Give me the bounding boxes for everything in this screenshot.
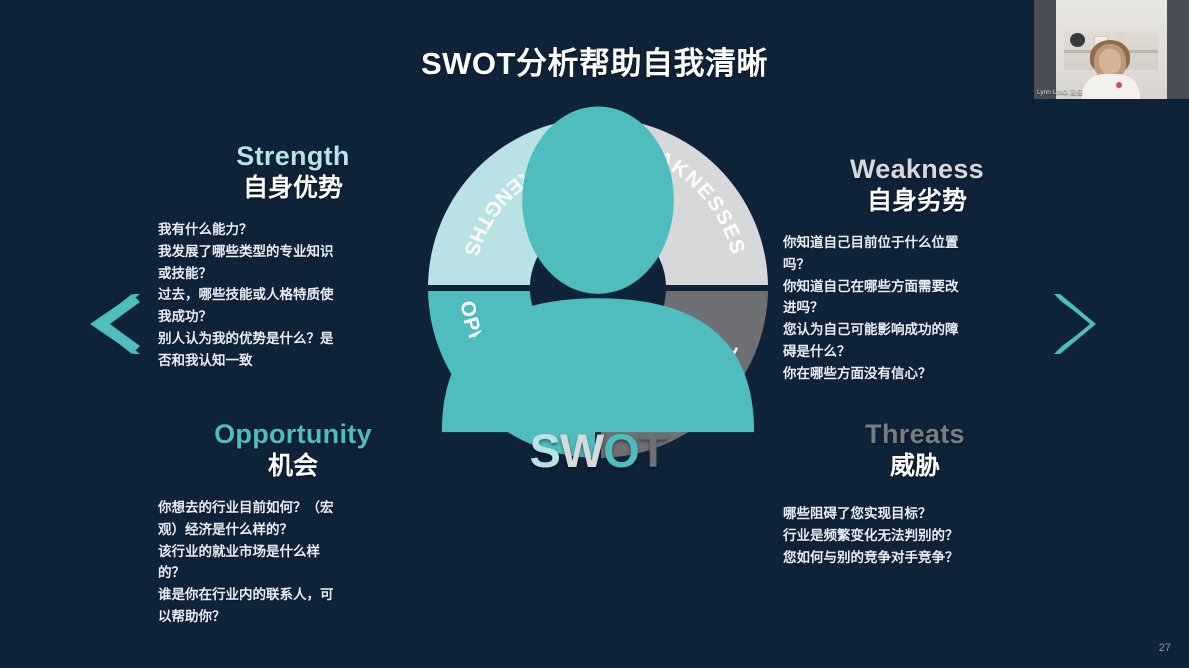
quadrant-opportunity: Opportunity 机会 你想去的行业目前如何？（宏 观）经济是什么样的？ … — [158, 420, 408, 629]
text-line: 我发展了哪些类型的专业知识 — [158, 242, 408, 263]
quadrant-threats-title-cn: 威胁 — [797, 451, 1033, 482]
quadrant-threats-heading: Threats 威胁 — [783, 420, 1033, 482]
quadrant-threats-title-en: Threats — [797, 420, 1033, 449]
video-feed — [1056, 0, 1167, 99]
quadrant-opportunity-body: 你想去的行业目前如何？（宏 观）经济是什么样的？ 该行业的就业市场是什么样 的？… — [158, 498, 408, 629]
text-line: 您如何与别的竞争对手竞争？ — [783, 548, 1033, 569]
participant-body — [1082, 74, 1140, 99]
quadrant-weakness-title-en: Weakness — [801, 155, 1033, 184]
participant-face — [1099, 49, 1121, 75]
text-line: 别人认为我的优势是什么？是 — [158, 329, 408, 350]
text-line: 哪些阻碍了您实现目标？ — [783, 504, 1033, 525]
text-line: 你在哪些方面没有信心？ — [783, 364, 1033, 385]
presentation-slide: SWOT分析帮助自我清晰 Strength 自身优势 我有什么能力？ 我发展了哪… — [0, 0, 1189, 668]
text-line: 该行业的就业市场是什么样 — [158, 542, 408, 563]
text-line: 你想去的行业目前如何？（宏 — [158, 498, 408, 519]
quadrant-opportunity-title-cn: 机会 — [178, 451, 408, 482]
quadrant-strength-heading: Strength 自身优势 — [158, 142, 408, 204]
text-line: 过去，哪些技能或人格特质使 — [158, 285, 408, 306]
quadrant-strength-body: 我有什么能力？ 我发展了哪些类型的专业知识 或技能？ 过去，哪些技能或人格特质使… — [158, 220, 408, 372]
quadrant-weakness-body: 你知道自己目前位于什么位置 吗？ 你知道自己在哪些方面需要改 进吗？ 您认为自己… — [783, 233, 1033, 385]
quadrant-strength-title-en: Strength — [178, 142, 408, 171]
quadrant-threats-body: 哪些阻碍了您实现目标？ 行业是频繁变化无法判别的？ 您如何与别的竞争对手竞争？ — [783, 504, 1033, 569]
text-line: 碍是什么？ — [783, 342, 1033, 363]
text-line: 谁是你在行业内的联系人，可 — [158, 585, 408, 606]
text-line: 吗？ — [783, 255, 1033, 276]
quadrant-opportunity-title-en: Opportunity — [178, 420, 408, 449]
text-line: 否和我认知一致 — [158, 351, 408, 372]
text-line: 我成功？ — [158, 307, 408, 328]
next-slide-button[interactable] — [1046, 292, 1098, 356]
quadrant-weakness: Weakness 自身劣势 你知道自己目前位于什么位置 吗？ 你知道自己在哪些方… — [783, 155, 1033, 386]
text-line: 以帮助你？ — [158, 607, 408, 628]
text-line: 你知道自己在哪些方面需要改 — [783, 277, 1033, 298]
text-line: 的？ — [158, 563, 408, 584]
page-number: 27 — [1159, 642, 1171, 654]
chevron-left-icon — [88, 292, 140, 356]
text-line: 观）经济是什么样的？ — [158, 520, 408, 541]
video-participant-tile[interactable]: Lynn LING 凌佳 — [1034, 0, 1189, 99]
shelf-object-1 — [1070, 33, 1085, 47]
text-line: 您认为自己可能影响成功的障 — [783, 320, 1033, 341]
participant-name-label: Lynn LING 凌佳 — [1037, 86, 1083, 96]
quadrant-strength: Strength 自身优势 我有什么能力？ 我发展了哪些类型的专业知识 或技能？… — [158, 142, 408, 373]
text-line: 进吗？ — [783, 298, 1033, 319]
chevron-right-icon — [1046, 292, 1098, 356]
arc-threats — [601, 291, 768, 458]
quadrant-opportunity-heading: Opportunity 机会 — [158, 420, 408, 482]
text-line: 行业是频繁变化无法判别的？ — [783, 526, 1033, 547]
previous-slide-button[interactable] — [88, 292, 140, 356]
quadrant-weakness-heading: Weakness 自身劣势 — [783, 155, 1033, 217]
text-line: 或技能？ — [158, 264, 408, 285]
quadrant-threats: Threats 威胁 哪些阻碍了您实现目标？ 行业是频繁变化无法判别的？ 您如何… — [783, 420, 1033, 569]
text-line: 你知道自己目前位于什么位置 — [783, 233, 1033, 254]
quadrant-strength-title-cn: 自身优势 — [178, 173, 408, 204]
swot-donut-diagram: STRENGTHS WEAKNESSES OPPORTUNITIES THREA… — [424, 114, 772, 462]
shirt-logo — [1116, 82, 1122, 88]
text-line: 我有什么能力？ — [158, 220, 408, 241]
quadrant-weakness-title-cn: 自身劣势 — [801, 186, 1033, 217]
page-title: SWOT分析帮助自我清晰 — [0, 38, 1189, 83]
